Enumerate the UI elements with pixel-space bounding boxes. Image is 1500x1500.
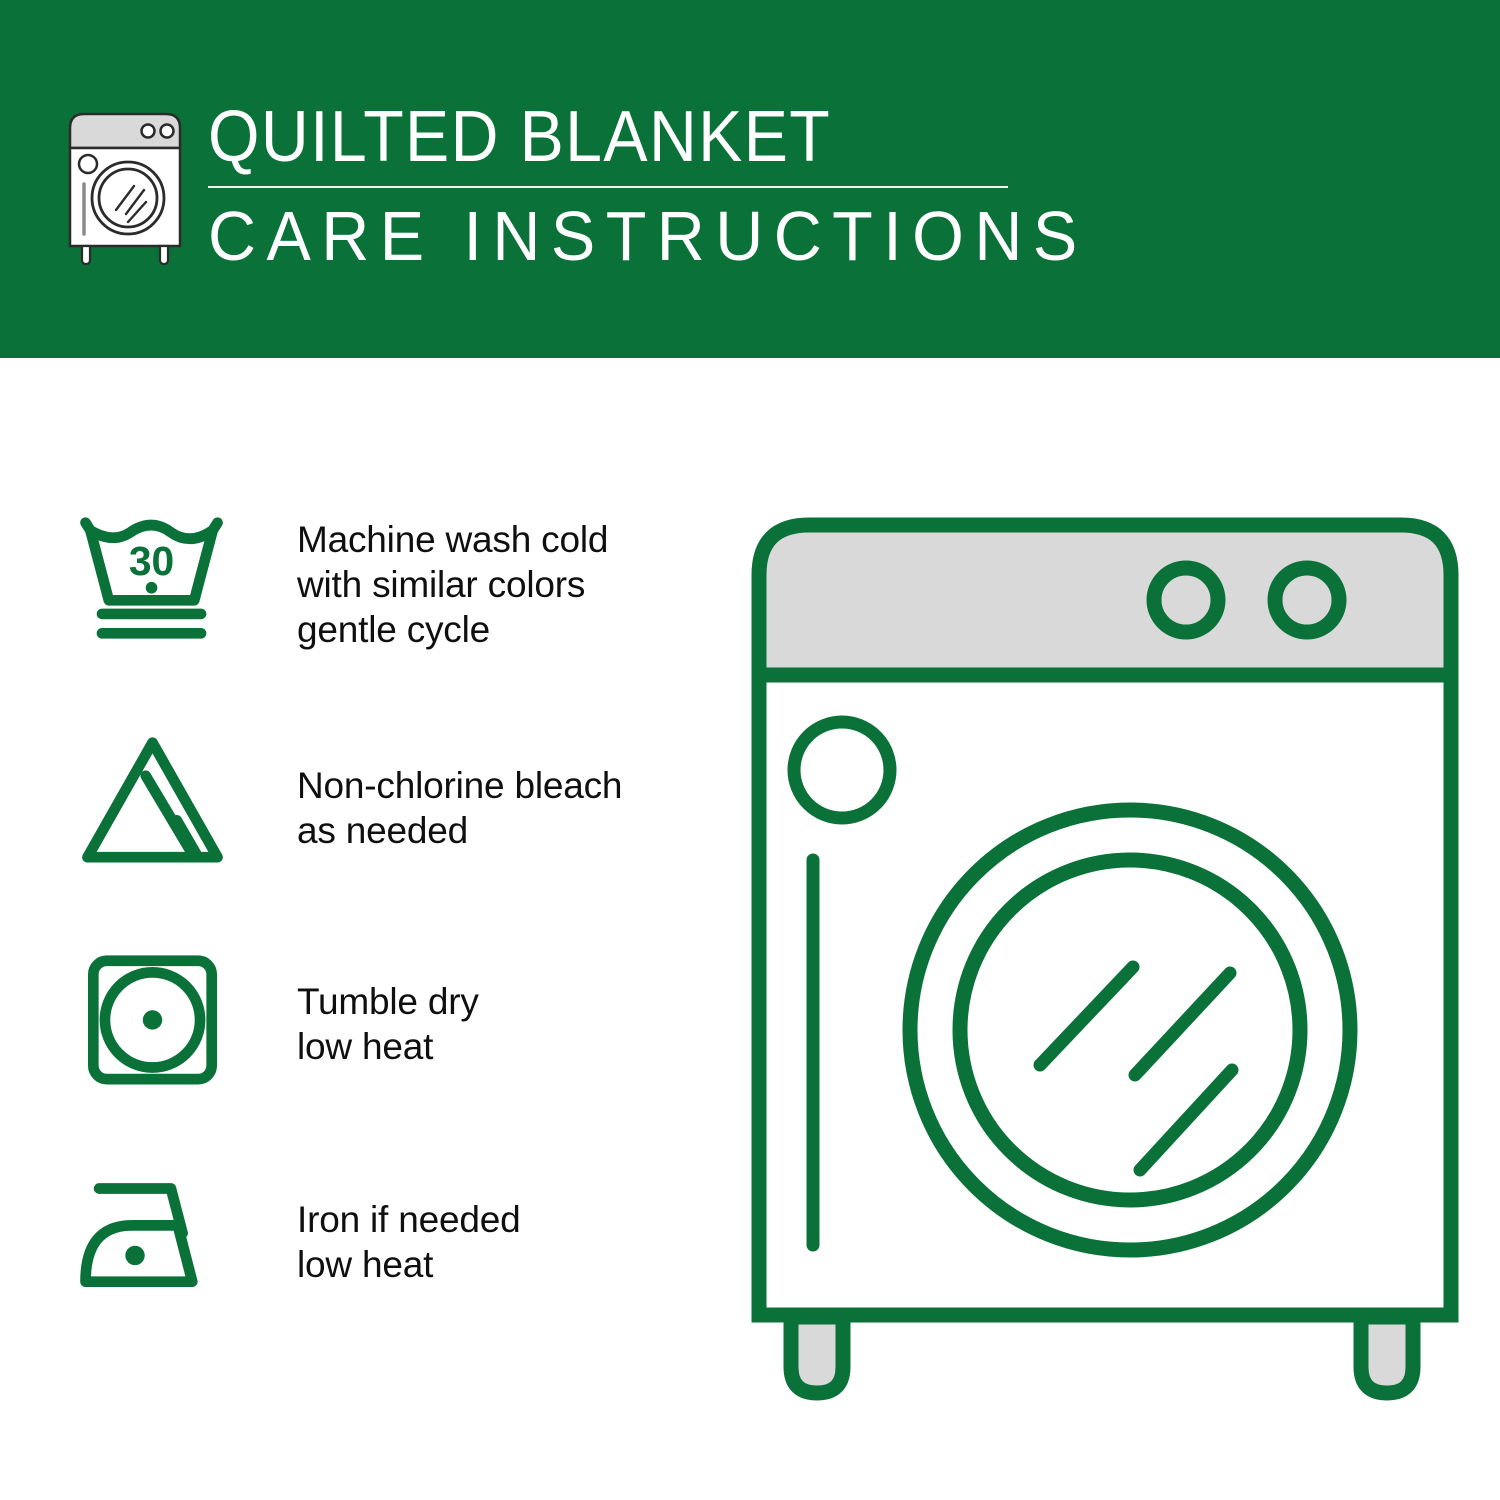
- title-divider: [208, 186, 1008, 188]
- tumble-dry-low-icon: [70, 945, 235, 1091]
- control-panel: [759, 525, 1451, 675]
- list-item: 30 Machine wash cold with similar colors…: [70, 505, 710, 725]
- list-item: Iron if needed low heat: [70, 1165, 710, 1385]
- care-label: Iron if needed low heat: [297, 1165, 520, 1287]
- care-label-line: Non-chlorine bleach: [297, 763, 622, 808]
- leg-left: [791, 1317, 843, 1393]
- wash-temperature-value: 30: [129, 538, 174, 584]
- care-label-line: Machine wash cold: [297, 517, 608, 562]
- page-subtitle: CARE INSTRUCTIONS: [208, 198, 1088, 274]
- header-content: QUILTED BLANKET CARE INSTRUCTIONS: [60, 98, 1134, 274]
- care-label-line: Tumble dry: [297, 979, 479, 1024]
- washing-machine-icon: [60, 106, 190, 266]
- iron-low-heat-icon: [70, 1165, 235, 1311]
- header-banner: QUILTED BLANKET CARE INSTRUCTIONS: [0, 0, 1500, 358]
- care-label-line: as needed: [297, 808, 622, 853]
- care-label: Tumble dry low heat: [297, 945, 479, 1069]
- care-label-line: Iron if needed: [297, 1197, 520, 1242]
- care-label-line: gentle cycle: [297, 607, 608, 652]
- page-title: QUILTED BLANKET: [208, 98, 1060, 176]
- care-label-line: with similar colors: [297, 562, 608, 607]
- list-item: Non-chlorine bleach as needed: [70, 725, 710, 945]
- care-label: Non-chlorine bleach as needed: [297, 725, 622, 853]
- care-label-line: low heat: [297, 1024, 479, 1069]
- list-item: Tumble dry low heat: [70, 945, 710, 1165]
- header-titles: QUILTED BLANKET CARE INSTRUCTIONS: [208, 98, 1134, 274]
- wash-basin-30-gentle-icon: 30: [70, 505, 235, 651]
- care-label-line: low heat: [297, 1242, 520, 1287]
- non-chlorine-bleach-triangle-icon: [70, 725, 235, 871]
- front-load-washing-machine-illustration: [745, 505, 1465, 1410]
- care-label: Machine wash cold with similar colors ge…: [297, 505, 608, 652]
- leg-right: [1361, 1317, 1413, 1393]
- care-instruction-list: 30 Machine wash cold with similar colors…: [70, 505, 710, 1385]
